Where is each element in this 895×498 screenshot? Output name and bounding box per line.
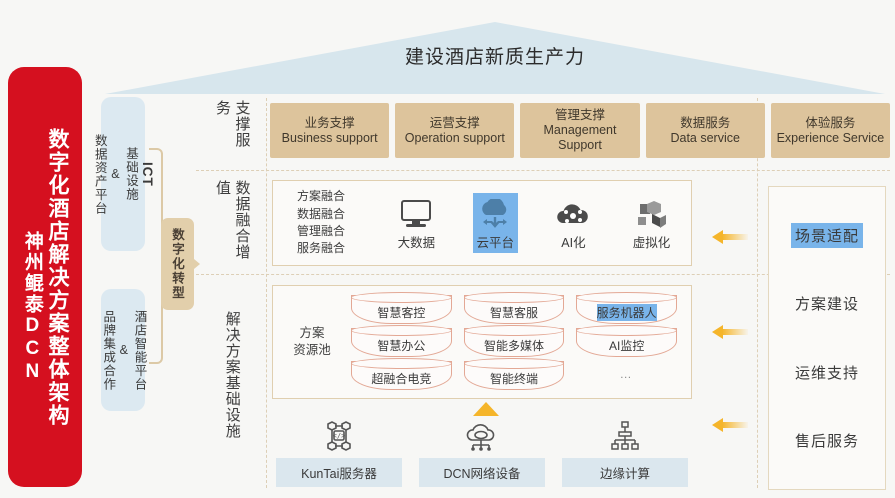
infra-item-server[interactable]: </> KunTai服务器 (276, 420, 402, 488)
arrow-shaft (722, 422, 748, 428)
fusion-item-virtualization-label: 虚拟化 (633, 232, 671, 251)
svg-text:</>: </> (333, 432, 346, 440)
right-service-solution-build[interactable]: 方案建设 (791, 291, 863, 316)
edge-tree-icon (608, 420, 642, 454)
pool-item-service-robot[interactable]: 服务机器人 (576, 295, 677, 324)
left-panel-hotel: 酒店智能平台 & 品牌集成合作 (101, 289, 145, 411)
architecture-diagram: 数字化酒店解决方案整体架构 神州鲲泰DCN 建设酒店新质生产力 ICT 基础设施… (0, 0, 895, 498)
support-box-data-cn: 数据服务 (680, 116, 730, 131)
fusion-item-bigdata-label: 大数据 (398, 232, 436, 251)
resource-pool-box: 方案 资源池 智慧客控 智慧客服 服务机器人 智慧办公 智能多媒体 AI监控 超… (272, 285, 692, 399)
row-label-data-fusion: 数据融合增值 (196, 180, 268, 272)
support-box-business[interactable]: 业务支撑 Business support (270, 103, 389, 158)
cubes-icon (634, 195, 670, 229)
cloud-icon (477, 195, 513, 229)
right-service-after-sales[interactable]: 售后服务 (791, 428, 863, 453)
pool-item-smart-terminal[interactable]: 智能终端 (464, 361, 565, 390)
divider-support-data (196, 170, 890, 171)
row-label-solution-infra-text: 解决方案基础设施 (222, 311, 242, 439)
server-nodes-icon: </> (322, 420, 356, 454)
support-box-experience-en: Experience Service (777, 131, 885, 146)
pool-item-label: … (620, 367, 634, 381)
pool-item-hci-esports[interactable]: 超融合电竞 (351, 361, 452, 390)
pool-item-label: 智能多媒体 (484, 337, 544, 354)
support-box-experience-cn: 体验服务 (805, 116, 855, 131)
fusion-item-ai-label: AI化 (561, 232, 585, 251)
infra-item-edge[interactable]: 边缘计算 (562, 420, 688, 488)
resource-pool-title: 方案 资源池 (273, 325, 351, 360)
support-box-business-en: Business support (282, 131, 378, 146)
support-box-operation-cn: 运营支撑 (430, 116, 480, 131)
infra-item-server-label: KunTai服务器 (276, 458, 402, 487)
row-label-support-text: 支撑服务 (213, 100, 252, 162)
pool-item-label: 服务机器人 (597, 304, 657, 321)
support-box-management-cn: 管理支撑 (555, 108, 605, 123)
left-panel-ict: ICT 基础设施 & 数据资产平台 (101, 97, 145, 251)
monitor-icon (399, 195, 433, 229)
pool-item-label: 超融合电竞 (371, 370, 431, 387)
arrow-head-icon (712, 418, 723, 432)
pool-item-more: … (576, 361, 677, 390)
roof-title: 建设酒店新质生产力 (105, 42, 885, 69)
banner-sub-title: 神州鲲泰DCN (21, 171, 43, 384)
right-service-scene-adaptation[interactable]: 场景适配 (791, 223, 863, 248)
ai-cloud-icon (555, 195, 591, 229)
support-box-experience[interactable]: 体验服务 Experience Service (771, 103, 890, 158)
divider-label-column (266, 98, 267, 488)
arrow-head-icon (712, 230, 723, 244)
pool-item-label: AI监控 (609, 337, 644, 354)
arrow-shaft (722, 329, 748, 335)
pool-item-label: 智慧办公 (377, 337, 425, 354)
fusion-keywords: 方案融合 数据融合 管理融合 服务融合 (273, 188, 377, 258)
infra-item-edge-label: 边缘计算 (562, 458, 688, 487)
digital-transformation-tab: 数字化转型 (161, 218, 194, 310)
support-box-data-en: Data service (670, 131, 739, 146)
left-panel-ict-line3: 数据资产平台 (91, 134, 107, 215)
pool-item-ai-monitoring[interactable]: AI监控 (576, 328, 677, 357)
flow-arrow-scene (712, 230, 748, 244)
left-panel-hotel-line1: 酒店智能平台 (131, 310, 147, 391)
pool-item-multimedia[interactable]: 智能多媒体 (464, 328, 565, 357)
flow-arrow-solution (712, 325, 748, 339)
support-box-management-en: Management Support (520, 123, 639, 153)
support-services-row: 业务支撑 Business support 运营支撑 Operation sup… (270, 103, 890, 158)
up-arrow-icon (473, 402, 499, 416)
left-panel-hotel-line2: & (115, 343, 131, 358)
resource-pool-grid: 智慧客控 智慧客服 服务机器人 智慧办公 智能多媒体 AI监控 超融合电竞 智能… (351, 295, 691, 390)
pool-item-smart-room-control[interactable]: 智慧客控 (351, 295, 452, 324)
infra-item-network[interactable]: DCN网络设备 (419, 420, 545, 488)
fusion-item-virtualization[interactable]: 虚拟化 (629, 193, 675, 253)
support-box-management[interactable]: 管理支撑 Management Support (520, 103, 639, 158)
network-cloud-icon (462, 420, 502, 454)
support-box-data[interactable]: 数据服务 Data service (646, 103, 765, 158)
banner-main-title: 数字化酒店解决方案整体架构 (45, 128, 69, 427)
fusion-items: 大数据 云平台 (377, 193, 691, 253)
fusion-item-ai[interactable]: AI化 (551, 193, 595, 253)
arrow-head-icon (712, 325, 723, 339)
pool-item-smart-office[interactable]: 智慧办公 (351, 328, 452, 357)
support-box-operation-en: Operation support (405, 131, 505, 146)
right-service-ops-support[interactable]: 运维支持 (791, 360, 863, 385)
fusion-item-bigdata[interactable]: 大数据 (394, 193, 440, 253)
left-panel-hotel-line3: 品牌集成合作 (100, 310, 116, 391)
flow-arrow-aftersales (712, 418, 748, 432)
support-box-operation[interactable]: 运营支撑 Operation support (395, 103, 514, 158)
right-services-panel: 场景适配 方案建设 运维支持 售后服务 (768, 186, 886, 490)
red-title-banner: 数字化酒店解决方案整体架构 神州鲲泰DCN (8, 67, 82, 487)
infrastructure-row: </> KunTai服务器 DCN网络设备 (276, 420, 688, 488)
fusion-item-cloud-label: 云平台 (477, 232, 515, 251)
row-label-support: 支撑服务 (196, 100, 268, 162)
pool-item-smart-service[interactable]: 智慧客服 (464, 295, 565, 324)
pool-item-label: 智慧客服 (490, 304, 538, 321)
arrow-shaft (722, 234, 748, 240)
left-panel-ict-line1: 基础设施 (122, 147, 138, 201)
digital-transformation-label: 数字化转型 (168, 228, 187, 301)
left-panel-ict-line2: & (107, 167, 123, 182)
data-fusion-box: 方案融合 数据融合 管理融合 服务融合 大数据 (272, 180, 692, 266)
pool-item-label: 智慧客控 (377, 304, 425, 321)
support-box-business-cn: 业务支撑 (305, 116, 355, 131)
fusion-item-cloud[interactable]: 云平台 (473, 193, 519, 253)
row-label-data-fusion-text: 数据融合增值 (213, 180, 252, 272)
infra-item-network-label: DCN网络设备 (419, 458, 545, 487)
pool-item-label: 智能终端 (490, 370, 538, 387)
row-label-solution-infra: 解决方案基础设施 (196, 300, 268, 450)
